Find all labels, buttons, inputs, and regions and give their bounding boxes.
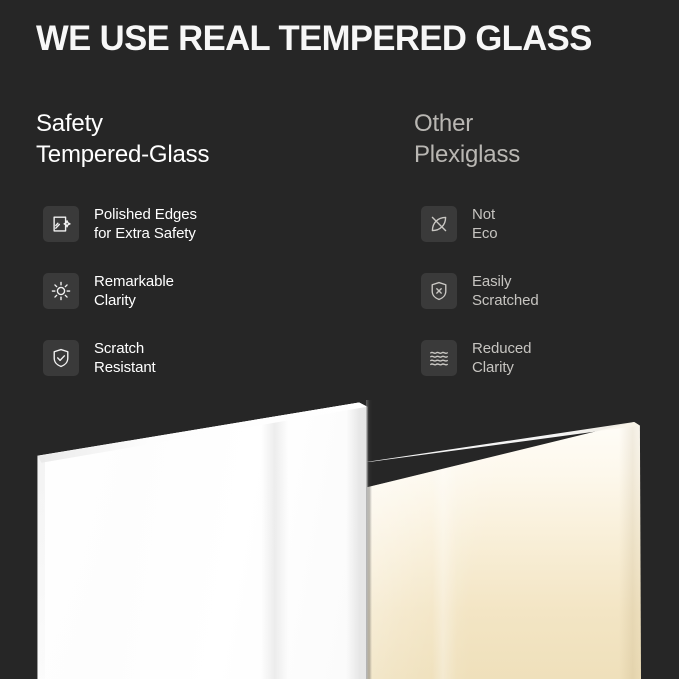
- polished-edge-sparkle-icon: [43, 206, 79, 242]
- infographic-page: WE USE REAL TEMPERED GLASS Safety Temper…: [0, 0, 679, 679]
- feature-polished-edges: Polished Edges for Extra Safety: [43, 206, 373, 242]
- product-photo: [0, 400, 679, 679]
- leaf-slash-icon: [421, 206, 457, 242]
- feature-list-left: Polished Edges for Extra Safety: [43, 206, 373, 407]
- feature-remarkable-clarity-label: Remarkable Clarity: [94, 272, 174, 310]
- column-plexiglass: Other Plexiglass Not Eco: [414, 108, 676, 170]
- column-tempered-glass: Safety Tempered-Glass Polished Edges for…: [36, 108, 366, 170]
- feature-easily-scratched-label: Easily Scratched: [472, 272, 539, 310]
- feature-reduced-clarity-label: Reduced Clarity: [472, 339, 531, 377]
- panel-separation-gap: [366, 400, 372, 679]
- feature-scratch-resistant-label: Scratch Resistant: [94, 339, 156, 377]
- plexiglass-panel-reflection: [366, 422, 641, 679]
- wavy-distortion-icon: [421, 340, 457, 376]
- feature-list-right: Not Eco Easily Scratched: [421, 206, 679, 407]
- feature-not-eco: Not Eco: [421, 206, 679, 242]
- page-title: WE USE REAL TEMPERED GLASS: [36, 18, 650, 60]
- shield-x-icon: [421, 273, 457, 309]
- column-heading-right-line2: Plexiglass: [414, 141, 520, 168]
- feature-easily-scratched: Easily Scratched: [421, 273, 679, 309]
- sun-brightness-icon: [43, 273, 79, 309]
- tempered-glass-panel-reflection: [30, 400, 370, 679]
- column-heading-left-line1: Safety: [36, 110, 103, 137]
- feature-polished-edges-label: Polished Edges for Extra Safety: [94, 205, 197, 243]
- feature-remarkable-clarity: Remarkable Clarity: [43, 273, 373, 309]
- feature-not-eco-label: Not Eco: [472, 205, 498, 243]
- column-heading-left: Safety Tempered-Glass: [36, 108, 366, 170]
- feature-scratch-resistant: Scratch Resistant: [43, 340, 373, 376]
- column-heading-right: Other Plexiglass: [414, 108, 676, 170]
- column-heading-left-line2: Tempered-Glass: [36, 141, 209, 168]
- column-heading-right-line1: Other: [414, 110, 473, 137]
- feature-reduced-clarity: Reduced Clarity: [421, 340, 679, 376]
- shield-check-icon: [43, 340, 79, 376]
